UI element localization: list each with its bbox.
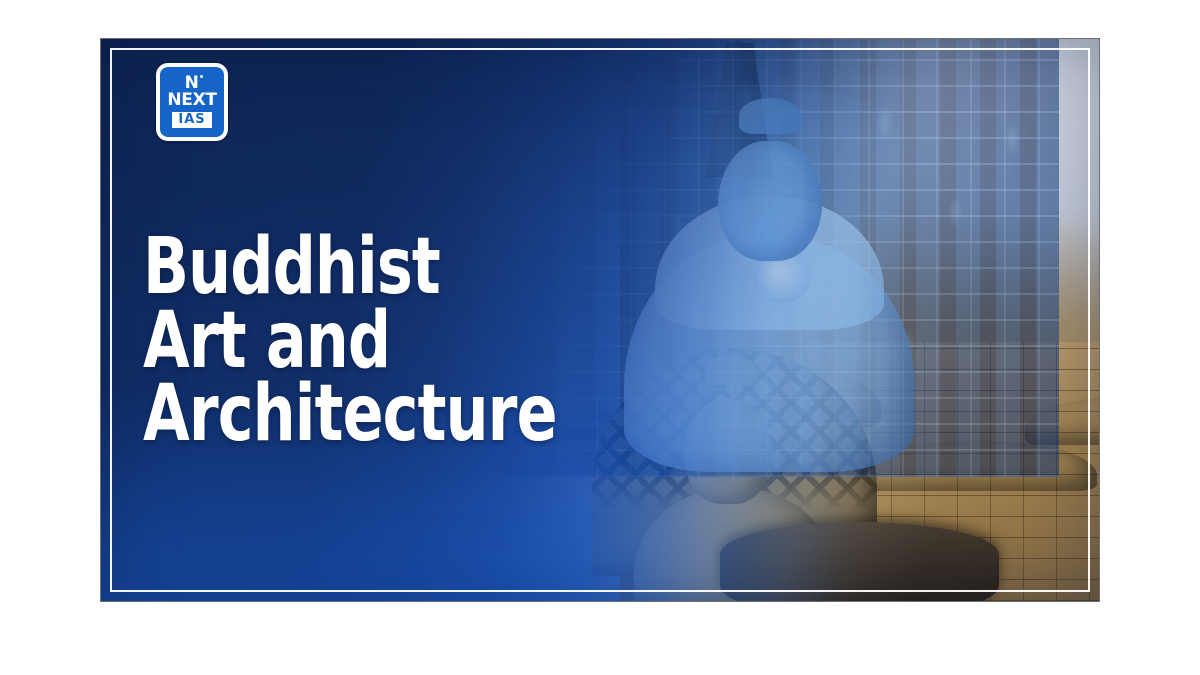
next-ias-logo[interactable]: N NEXT IAS	[156, 63, 228, 141]
banner-title-line-3: Architecture	[143, 378, 539, 451]
logo-tagline: IAS	[172, 112, 211, 128]
banner-title-line-2: Art and	[143, 305, 539, 378]
course-banner: N NEXT IAS Buddhist Art and Architecture	[100, 38, 1100, 602]
banner-title-line-1: Buddhist	[143, 231, 539, 304]
page-canvas: N NEXT IAS Buddhist Art and Architecture	[0, 0, 1200, 675]
banner-title: Buddhist Art and Architecture	[143, 231, 539, 451]
logo-letter-n: N	[185, 76, 200, 91]
logo-wordmark: NEXT	[167, 92, 216, 109]
